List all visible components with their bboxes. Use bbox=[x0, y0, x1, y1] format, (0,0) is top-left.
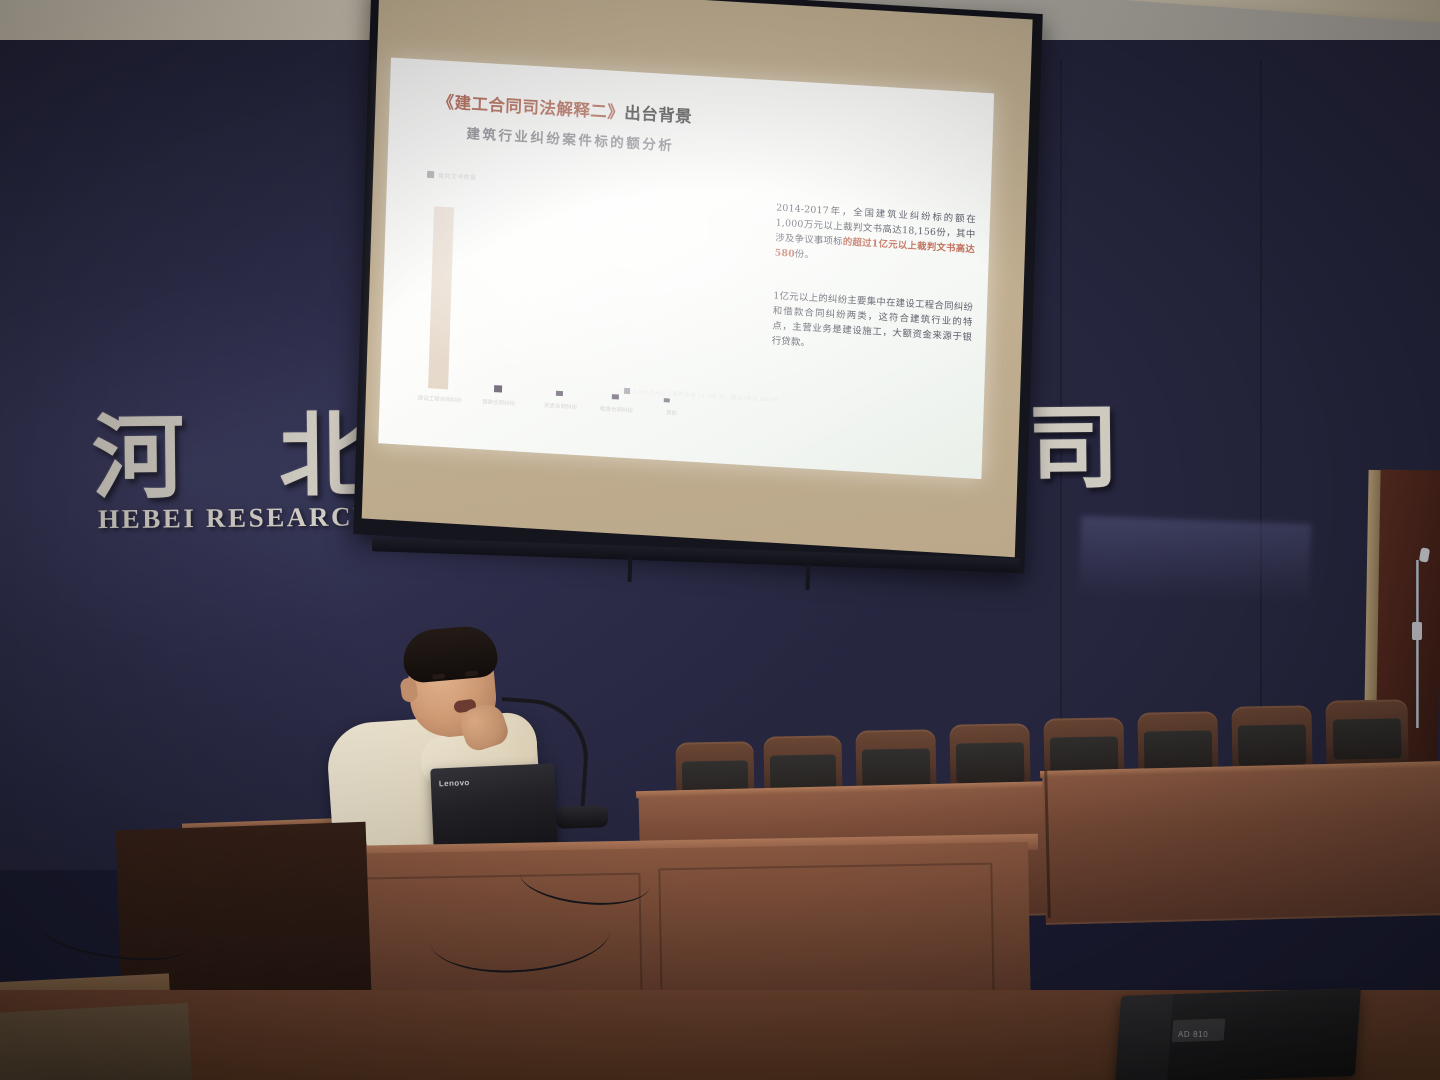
legend-label: 裁判文书数量 bbox=[438, 170, 477, 181]
chart-plot-area: 建设工程合同纠纷 借款合同纠纷 买卖合同纠纷 租赁合同纠纷 其他 bbox=[416, 188, 722, 406]
wall-light-reflection bbox=[1079, 516, 1312, 604]
speaker-model-label: AD 810 bbox=[1178, 1030, 1208, 1039]
wall-seam bbox=[1260, 60, 1262, 760]
slide-title: 《建工合同司法解释二》出台背景 bbox=[437, 88, 692, 127]
slide-paragraph-1: 2014-2017年，全国建筑业纠纷标的额在1,000万元以上裁判文书高达18,… bbox=[774, 201, 976, 273]
tick-label-0: 建设工程合同纠纷 bbox=[418, 394, 460, 404]
footnote-marker-icon bbox=[624, 388, 630, 394]
auditorium-seat bbox=[949, 723, 1030, 788]
floor-left-step bbox=[0, 1003, 192, 1080]
bar-2 bbox=[556, 391, 563, 396]
laptop-brand-logo: Lenovo bbox=[439, 778, 470, 788]
auditorium-seat bbox=[1231, 705, 1312, 770]
bar-chart: 裁判文书数量 建设工程合同纠纷 借款合同纠纷 买卖合同纠纷 租赁合同纠纷 其他 bbox=[415, 170, 722, 424]
projected-slide: 《建工合同司法解释二》出台背景 建筑行业纠纷案件标的额分析 裁判文书数量 建设工… bbox=[378, 57, 994, 479]
tick-label-1: 借款合同纠纷 bbox=[478, 397, 520, 407]
audience-desk bbox=[1042, 765, 1440, 925]
stage-monitor-speaker bbox=[1115, 988, 1361, 1080]
seat-back-panel bbox=[1238, 725, 1306, 766]
tick-label-3: 租赁合同纠纷 bbox=[595, 404, 637, 414]
projector-screen: 《建工合同司法解释二》出台背景 建筑行业纠纷案件标的额分析 裁判文书数量 建设工… bbox=[353, 0, 1043, 574]
laptop[interactable]: Lenovo bbox=[430, 763, 558, 852]
slide-paragraph-2: 1亿元以上的纠纷主要集中在建设工程合同纠纷和借款合同纠纷两类，这符合建筑行业的特… bbox=[772, 289, 974, 361]
tick-label-2: 买卖合同纠纷 bbox=[539, 401, 581, 411]
seat-back-panel bbox=[1332, 719, 1402, 760]
tick-label-4: 其他 bbox=[651, 407, 691, 417]
bar-1 bbox=[494, 385, 502, 392]
slide-title-main: 《建工合同司法解释二》 bbox=[437, 92, 624, 122]
chart-legend: 裁判文书数量 bbox=[427, 170, 477, 182]
auditorium-seat bbox=[1325, 699, 1408, 764]
seat-back-panel bbox=[1144, 731, 1212, 772]
seat-back-panel bbox=[956, 743, 1024, 784]
bar-4 bbox=[664, 398, 670, 402]
slide-title-tail: 出台背景 bbox=[624, 103, 693, 126]
speaker-grille bbox=[1115, 994, 1173, 1080]
bar-3 bbox=[612, 394, 619, 399]
microphone-stand bbox=[1416, 560, 1419, 728]
bar-0 bbox=[428, 206, 454, 389]
paragraph-1-tail: 份。 bbox=[795, 249, 814, 261]
microphone-stand-clamp bbox=[1412, 622, 1422, 640]
microphone-base bbox=[556, 805, 609, 829]
legend-swatch-icon bbox=[427, 171, 434, 178]
presentation-hall-photo: 河 北 建 ⋯ 公 司 HEBEI RESEARCH INSTITUTE OF … bbox=[0, 0, 1440, 1080]
slide-subtitle: 建筑行业纠纷案件标的额分析 bbox=[466, 122, 674, 154]
